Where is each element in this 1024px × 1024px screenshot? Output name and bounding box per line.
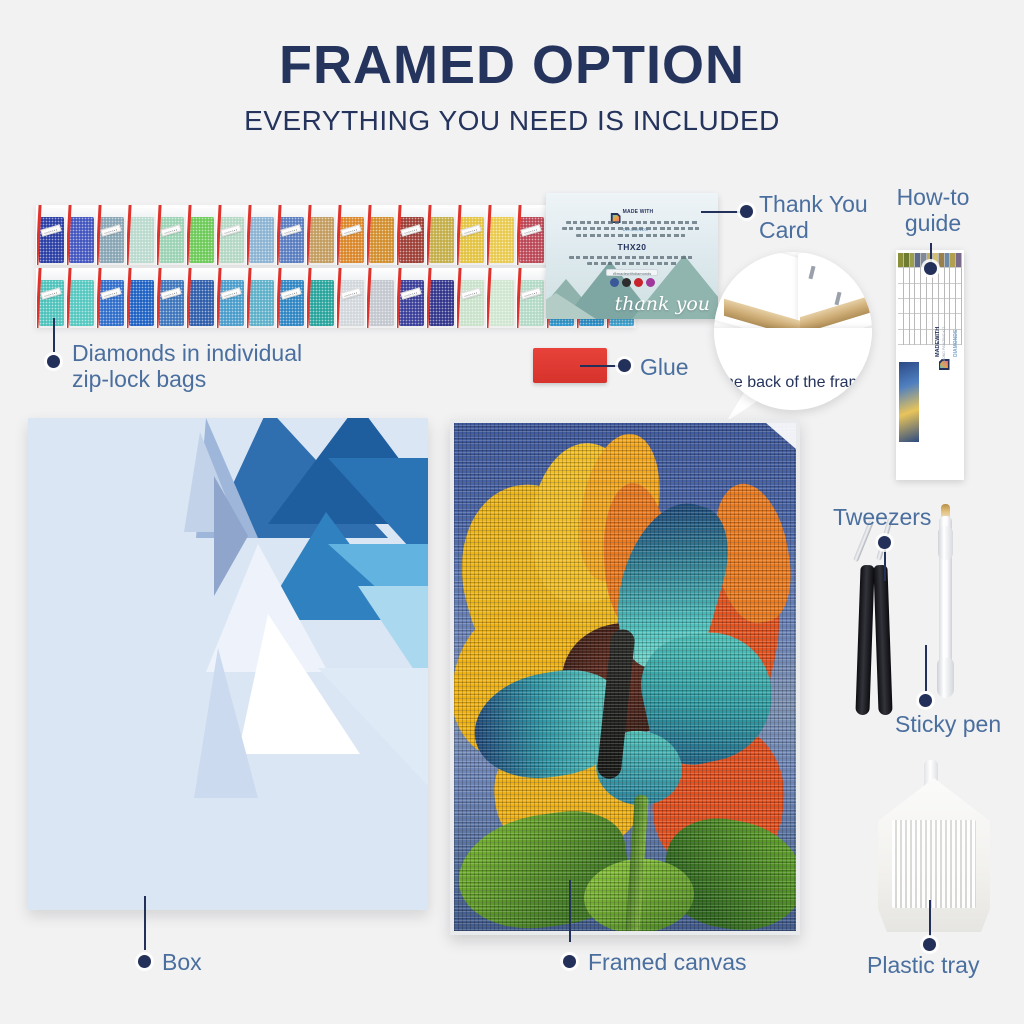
guide-table-cell <box>950 299 955 314</box>
guide-table-cell <box>927 284 932 299</box>
diamond-bag <box>126 268 156 328</box>
label-diamonds: Diamonds in individual zip-lock bags <box>72 341 302 393</box>
diamond-bag <box>366 205 396 265</box>
diamond-bag <box>246 268 276 328</box>
card-social-icons <box>560 278 704 287</box>
tweezers <box>852 535 908 715</box>
guide-table-cell <box>915 284 920 299</box>
framed-canvas <box>450 419 800 935</box>
guide-color-swatch <box>915 253 920 268</box>
bag-beads <box>129 217 154 263</box>
guide-color-swatch <box>898 253 903 268</box>
bag-beads <box>519 280 544 326</box>
guide-table-cell <box>898 330 903 345</box>
label-how-to-guide: How-to guide <box>889 185 977 237</box>
bag-beads <box>249 280 274 326</box>
frame-back-board <box>714 328 872 410</box>
leader-framed-canvas <box>569 880 571 942</box>
guide-table-cell <box>927 299 932 314</box>
guide-table-cell <box>945 268 950 283</box>
guide-table-cell <box>915 330 920 345</box>
guide-table-cell <box>956 299 961 314</box>
bag-beads <box>99 280 124 326</box>
diamond-bag <box>426 205 456 265</box>
diamond-bag <box>216 268 246 328</box>
diamond-bag <box>36 205 66 265</box>
diamond-bag <box>336 268 366 328</box>
callout-dot-how-to <box>924 262 937 275</box>
bag-beads <box>429 217 454 263</box>
card-social-handle: @madewithdiamonds <box>606 269 658 276</box>
guide-table-cell <box>898 284 903 299</box>
leader-sticky-pen <box>925 645 927 691</box>
callout-dot-thank-you <box>740 205 753 218</box>
bag-beads <box>39 217 64 263</box>
guide-table-cell <box>898 314 903 329</box>
bag-beads <box>249 217 274 263</box>
callout-dot-diamonds <box>47 355 60 368</box>
page-title: FRAMED OPTION <box>0 34 1024 96</box>
how-to-guide-sheet: MADEWITH DIAMONDS DIAMOND PAINTING KIT <box>896 250 964 480</box>
bag-beads <box>69 217 94 263</box>
bag-beads <box>429 280 454 326</box>
guide-table-cell <box>910 268 915 283</box>
diamond-bag <box>456 205 486 265</box>
guide-logo-line2: DIAMONDS <box>953 330 959 357</box>
bag-beads <box>369 217 394 263</box>
leader-box <box>144 896 146 950</box>
guide-table-cell <box>933 299 938 314</box>
guide-table-cell <box>904 299 909 314</box>
guide-color-swatch <box>939 253 944 268</box>
card-message-line <box>562 227 702 230</box>
tweezers-arm-right <box>873 565 892 715</box>
card-discount-code: THX20 <box>560 242 704 252</box>
leader-plastic-tray <box>929 900 931 936</box>
diamond-bag <box>186 205 216 265</box>
guide-logo-subtitle: DIAMOND PAINTING KIT <box>942 327 946 368</box>
bag-beads <box>69 280 94 326</box>
tweezers-arm-left <box>855 565 874 715</box>
guide-table-cell <box>898 299 903 314</box>
diamond-bag <box>516 268 546 328</box>
bag-beads <box>339 217 364 263</box>
guide-table-cell <box>956 268 961 283</box>
diamond-bag <box>216 205 246 265</box>
diamond-bag <box>246 205 276 265</box>
label-framed-canvas: Framed canvas <box>588 950 747 976</box>
guide-table-cell <box>915 314 920 329</box>
guide-table-cell <box>904 314 909 329</box>
pen-grip <box>938 526 953 560</box>
diamond-bag <box>396 205 426 265</box>
diamond-bag <box>126 205 156 265</box>
diamond-bag <box>456 268 486 328</box>
guide-table-cell <box>921 299 926 314</box>
guide-color-swatch <box>910 253 915 268</box>
guide-table-cell <box>939 299 944 314</box>
diamond-bag <box>186 268 216 328</box>
bag-beads <box>489 280 514 326</box>
diamond-bag <box>396 268 426 328</box>
callout-dot-sticky-pen <box>919 694 932 707</box>
leader-glue <box>580 365 622 367</box>
guide-color-swatch <box>956 253 961 268</box>
callout-dot-tweezers <box>878 536 891 549</box>
callout-dot-framed-canvas <box>563 955 576 968</box>
frame-back-bubble: The back of the frame <box>714 252 872 410</box>
diamond-bag <box>306 268 336 328</box>
bag-beads <box>129 280 154 326</box>
guide-table-cell <box>945 299 950 314</box>
bubble-label: The back of the frame <box>714 373 872 392</box>
card-mountain-4 <box>546 293 596 319</box>
box-facet <box>194 648 258 798</box>
bag-beads <box>399 280 424 326</box>
guide-table-cell <box>956 284 961 299</box>
guide-table-cell <box>910 299 915 314</box>
pinterest-icon <box>634 278 643 287</box>
guide-color-swatch <box>950 253 955 268</box>
product-box: MADEWITH DIAMONDS <box>28 418 428 910</box>
bag-beads <box>489 217 514 263</box>
card-logo-line1: MADE WITH <box>623 209 654 215</box>
card-message-line <box>587 262 676 265</box>
diamond-bag <box>336 205 366 265</box>
diamond-bag <box>426 268 456 328</box>
diamond-bag <box>66 205 96 265</box>
leader-diamonds <box>53 318 55 352</box>
bag-beads <box>309 217 334 263</box>
diamond-bag <box>366 268 396 328</box>
card-message-block: THX20 @madewithdiamonds <box>560 217 704 287</box>
label-sticky-pen: Sticky pen <box>895 712 1001 738</box>
bag-beads <box>159 217 184 263</box>
diamond-bag <box>156 268 186 328</box>
bag-beads <box>399 217 424 263</box>
diamond-bag <box>306 205 336 265</box>
guide-table-cell <box>915 268 920 283</box>
tray-ribs <box>892 820 976 908</box>
bag-beads <box>519 217 544 263</box>
guide-table-cell <box>910 314 915 329</box>
label-glue: Glue <box>640 355 689 381</box>
box-facet <box>318 668 428 788</box>
diamond-bag <box>276 268 306 328</box>
twitter-icon <box>622 278 631 287</box>
diamond-bag <box>96 205 126 265</box>
thank-you-card: MADE WITH DIAMONDS THX20 @madewithdiamon… <box>546 193 718 319</box>
bag-beads <box>309 280 334 326</box>
card-message-line <box>576 234 688 237</box>
guide-table-cell <box>904 268 909 283</box>
callout-dot-plastic-tray <box>923 938 936 951</box>
guide-table-cell <box>915 299 920 314</box>
bag-beads <box>39 280 64 326</box>
leader-tweezers <box>884 545 886 581</box>
guide-table-cell <box>945 284 950 299</box>
guide-table-cell <box>939 268 944 283</box>
card-thank-you-script: thank you <box>615 297 710 313</box>
guide-table-cell <box>950 284 955 299</box>
bag-beads <box>219 217 244 263</box>
guide-table-cell <box>950 268 955 283</box>
callout-dot-box <box>138 955 151 968</box>
diamond-bag <box>96 268 126 328</box>
diamond-bag <box>36 268 66 328</box>
bag-beads <box>369 280 394 326</box>
guide-table-cell <box>910 284 915 299</box>
guide-preview-image <box>899 362 919 442</box>
infographic-canvas: FRAMED OPTION EVERYTHING YOU NEED IS INC… <box>0 0 1024 1024</box>
guide-table-cell <box>904 284 909 299</box>
bag-beads <box>159 280 184 326</box>
bag-beads <box>99 217 124 263</box>
guide-logo-line1: MADEWITH <box>935 327 941 357</box>
bag-beads <box>459 217 484 263</box>
bag-beads <box>189 217 214 263</box>
page-subtitle: EVERYTHING YOU NEED IS INCLUDED <box>0 105 1024 137</box>
diamond-bag <box>66 268 96 328</box>
diamond-bag <box>486 205 516 265</box>
canvas-artwork <box>454 423 796 931</box>
facebook-icon <box>610 278 619 287</box>
guide-color-swatch <box>904 253 909 268</box>
guide-table-cell <box>921 284 926 299</box>
leader-thank-you <box>701 211 745 213</box>
instagram-icon <box>646 278 655 287</box>
guide-color-swatch <box>945 253 950 268</box>
label-box: Box <box>162 950 202 976</box>
label-tweezers: Tweezers <box>833 505 931 531</box>
guide-table-cell <box>910 330 915 345</box>
bag-beads <box>339 280 364 326</box>
plastic-tray <box>878 760 990 932</box>
bag-beads <box>459 280 484 326</box>
guide-table-cell <box>939 284 944 299</box>
diamond-bag <box>156 205 186 265</box>
label-plastic-tray: Plastic tray <box>867 953 979 979</box>
bag-beads <box>219 280 244 326</box>
guide-table-cell <box>933 284 938 299</box>
canvas-corner-fold <box>766 423 796 449</box>
callout-dot-glue <box>618 359 631 372</box>
card-message-line <box>569 256 696 259</box>
card-message-line <box>566 221 698 224</box>
bag-beads <box>279 280 304 326</box>
bag-beads <box>189 280 214 326</box>
guide-table-cell <box>904 330 909 345</box>
bag-beads <box>279 217 304 263</box>
sticky-pen <box>934 500 956 700</box>
diamond-bag <box>516 205 546 265</box>
pen-base <box>937 658 954 698</box>
diamond-bag <box>276 205 306 265</box>
guide-table-cell <box>898 268 903 283</box>
label-thank-you-card: Thank You Card <box>759 192 868 244</box>
diamond-bag <box>486 268 516 328</box>
